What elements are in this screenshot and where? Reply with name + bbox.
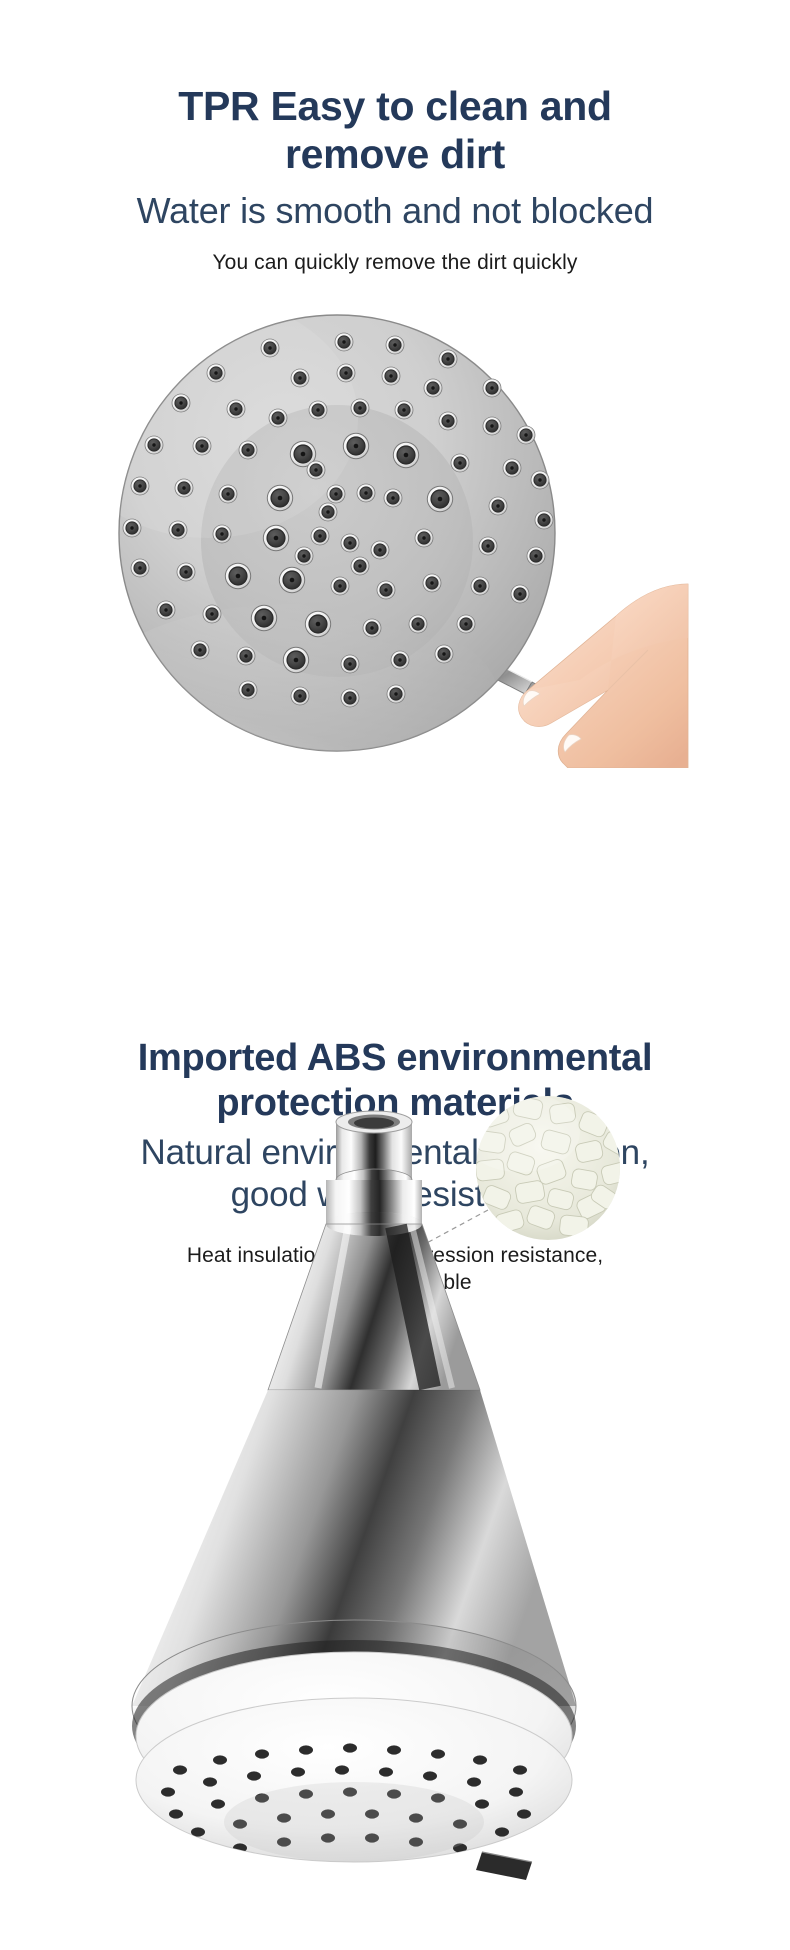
- tpr-nozzle: [337, 364, 356, 383]
- tpr-nozzle: [531, 471, 550, 490]
- headline-line-2: remove dirt: [0, 130, 790, 178]
- tpr-nozzle: [415, 529, 434, 548]
- tpr-nozzle: [511, 585, 530, 604]
- tpr-nozzle: [263, 525, 289, 551]
- tpr-nozzle: [261, 339, 280, 358]
- tpr-nozzle: [169, 521, 188, 540]
- tpr-nozzle: [435, 645, 454, 664]
- tpr-nozzle: [207, 364, 226, 383]
- chrome-body: [268, 1212, 480, 1390]
- hand-finger: [519, 584, 688, 768]
- tpr-nozzle: [503, 459, 522, 478]
- tpr-nozzle: [213, 525, 232, 544]
- shower-head-with-abs-pellets-image: [80, 1080, 700, 1950]
- tpr-nozzle: [483, 417, 502, 436]
- tpr-nozzle: [386, 336, 405, 355]
- tpr-nozzle: [227, 400, 246, 419]
- tpr-nozzle: [305, 611, 331, 637]
- tpr-nozzle: [283, 647, 309, 673]
- tpr-nozzle: [123, 519, 142, 538]
- tpr-nozzle: [175, 479, 194, 498]
- tpr-nozzle: [267, 485, 293, 511]
- tpr-nozzle: [309, 401, 328, 420]
- tpr-nozzle: [471, 577, 490, 596]
- tpr-nozzle: [269, 409, 288, 428]
- tpr-nozzle: [489, 497, 508, 516]
- tpr-nozzle: [535, 511, 554, 530]
- tpr-nozzle: [457, 615, 476, 634]
- tpr-nozzle: [157, 601, 176, 620]
- tpr-nozzle: [393, 442, 419, 468]
- bottom-lever: [476, 1852, 532, 1880]
- tpr-nozzle: [451, 454, 470, 473]
- tpr-nozzle: [424, 379, 443, 398]
- tpr-nozzle: [239, 441, 258, 460]
- tpr-nozzle: [439, 350, 458, 369]
- product-detail-page: TPR Easy to clean and remove dirt Water …: [0, 0, 790, 1950]
- tpr-nozzle: [131, 559, 150, 578]
- subhead-line-1: Water is smooth and not blocked: [0, 189, 790, 232]
- tpr-nozzle: [203, 605, 222, 624]
- tpr-nozzle: [409, 615, 428, 634]
- tpr-nozzle: [279, 567, 305, 593]
- tpr-nozzle: [483, 379, 502, 398]
- tpr-nozzle: [225, 563, 251, 589]
- section-tpr-clean-text: TPR Easy to clean and remove dirt Water …: [0, 82, 790, 276]
- tpr-nozzle: [517, 426, 536, 445]
- tpr-nozzle: [131, 477, 150, 496]
- tpr-nozzle: [527, 547, 546, 566]
- tpr-nozzle: [387, 685, 406, 704]
- tpr-nozzle: [291, 369, 310, 388]
- tpr-nozzle: [239, 681, 258, 700]
- tpr-nozzle: [335, 333, 354, 352]
- tpr-nozzle: [237, 647, 256, 666]
- tpr-nozzle: [331, 577, 350, 596]
- tpr-nozzle: [357, 484, 376, 503]
- tpr-nozzle: [307, 461, 326, 480]
- tpr-nozzle: [341, 689, 360, 708]
- tpr-nozzle: [311, 527, 330, 546]
- section-tpr-clean-caption: You can quickly remove the dirt quickly: [0, 249, 790, 276]
- shower-face-with-finger-image: [88, 298, 708, 768]
- headline-line-1: TPR Easy to clean and: [0, 82, 790, 130]
- tpr-nozzle: [371, 541, 390, 560]
- tpr-nozzle: [291, 687, 310, 706]
- tpr-nozzle: [391, 651, 410, 670]
- tpr-nozzle: [351, 399, 370, 418]
- tpr-nozzle: [439, 412, 458, 431]
- tpr-nozzle: [327, 485, 346, 504]
- tpr-nozzle: [382, 367, 401, 386]
- tpr-nozzle: [427, 486, 453, 512]
- tpr-nozzle: [341, 655, 360, 674]
- tpr-nozzle: [384, 489, 403, 508]
- tpr-nozzle: [351, 557, 370, 576]
- tpr-nozzle: [343, 433, 369, 459]
- tpr-nozzle: [319, 503, 338, 522]
- chrome-connector: [336, 1111, 412, 1191]
- tpr-nozzle: [177, 563, 196, 582]
- tpr-nozzle: [363, 619, 382, 638]
- tpr-nozzle: [219, 485, 238, 504]
- headline-line-1: Imported ABS environmental: [0, 1036, 790, 1081]
- abs-pellet-inset: [460, 1092, 631, 1240]
- tpr-nozzle: [479, 537, 498, 556]
- tpr-nozzle: [145, 436, 164, 455]
- tpr-nozzle: [172, 394, 191, 413]
- tpr-nozzle: [295, 547, 314, 566]
- tpr-nozzle: [191, 641, 210, 660]
- caption-line-1: You can quickly remove the dirt quickly: [0, 249, 790, 276]
- tpr-nozzle: [341, 534, 360, 553]
- section-tpr-clean-headline: TPR Easy to clean and remove dirt: [0, 82, 790, 179]
- tpr-nozzle: [251, 605, 277, 631]
- tpr-nozzle: [377, 581, 396, 600]
- tpr-nozzle: [423, 574, 442, 593]
- section-tpr-clean-subhead: Water is smooth and not blocked: [0, 189, 790, 232]
- tpr-nozzle: [395, 401, 414, 420]
- tpr-nozzle: [193, 437, 212, 456]
